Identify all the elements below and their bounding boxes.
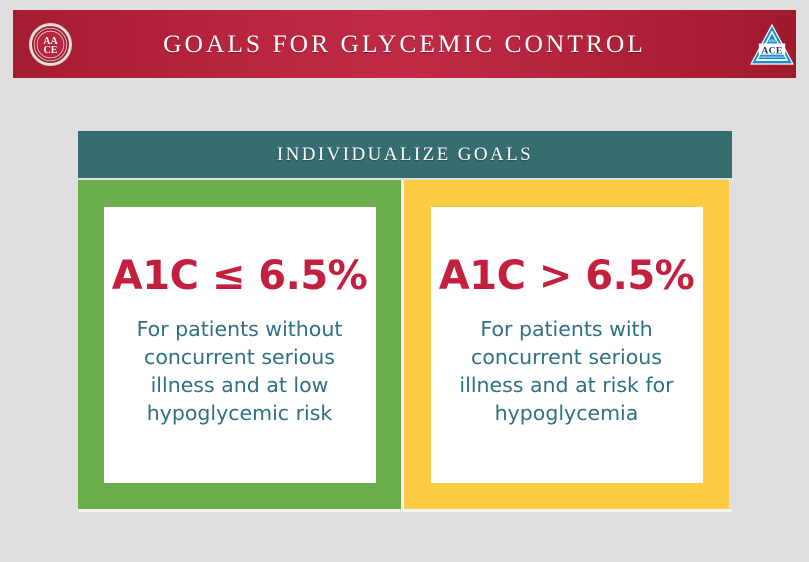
svg-text:1993: 1993 (768, 39, 775, 43)
slide-canvas: GOALS FOR GLYCEMIC CONTROL AA CE ACE 199… (0, 0, 809, 562)
svg-text:ENDOCRINOLOGY: ENDOCRINOLOGY (759, 55, 785, 59)
svg-text:ACE: ACE (761, 45, 782, 56)
cards-bottom-divider (78, 509, 732, 512)
goal-card-low-risk-heading: A1C ≤ 6.5% (112, 255, 367, 297)
individualize-goals-banner: INDIVIDUALIZE GOALS (78, 131, 732, 178)
goal-card-high-risk-inner: A1C > 6.5% For patients with concurrent … (431, 207, 703, 483)
goal-card-low-risk: A1C ≤ 6.5% For patients without concurre… (78, 180, 404, 509)
svg-text:CE: CE (44, 45, 58, 56)
slide-header-band: GOALS FOR GLYCEMIC CONTROL (13, 10, 796, 78)
ace-triangle-icon: ACE 1993 ENDOCRINOLOGY (750, 24, 794, 66)
goal-card-low-risk-body: For patients without concurrent serious … (115, 316, 365, 428)
goal-card-high-risk-heading: A1C > 6.5% (439, 255, 694, 297)
goal-card-low-risk-inner: A1C ≤ 6.5% For patients without concurre… (104, 207, 376, 483)
goal-card-high-risk-body: For patients with concurrent serious ill… (442, 316, 692, 428)
individualize-goals-label: INDIVIDUALIZE GOALS (277, 144, 533, 166)
goal-card-high-risk: A1C > 6.5% For patients with concurrent … (404, 180, 729, 509)
aace-seal-icon: AA CE (29, 23, 72, 66)
page-title: GOALS FOR GLYCEMIC CONTROL (163, 29, 646, 59)
goal-cards-row: A1C ≤ 6.5% For patients without concurre… (78, 180, 732, 509)
